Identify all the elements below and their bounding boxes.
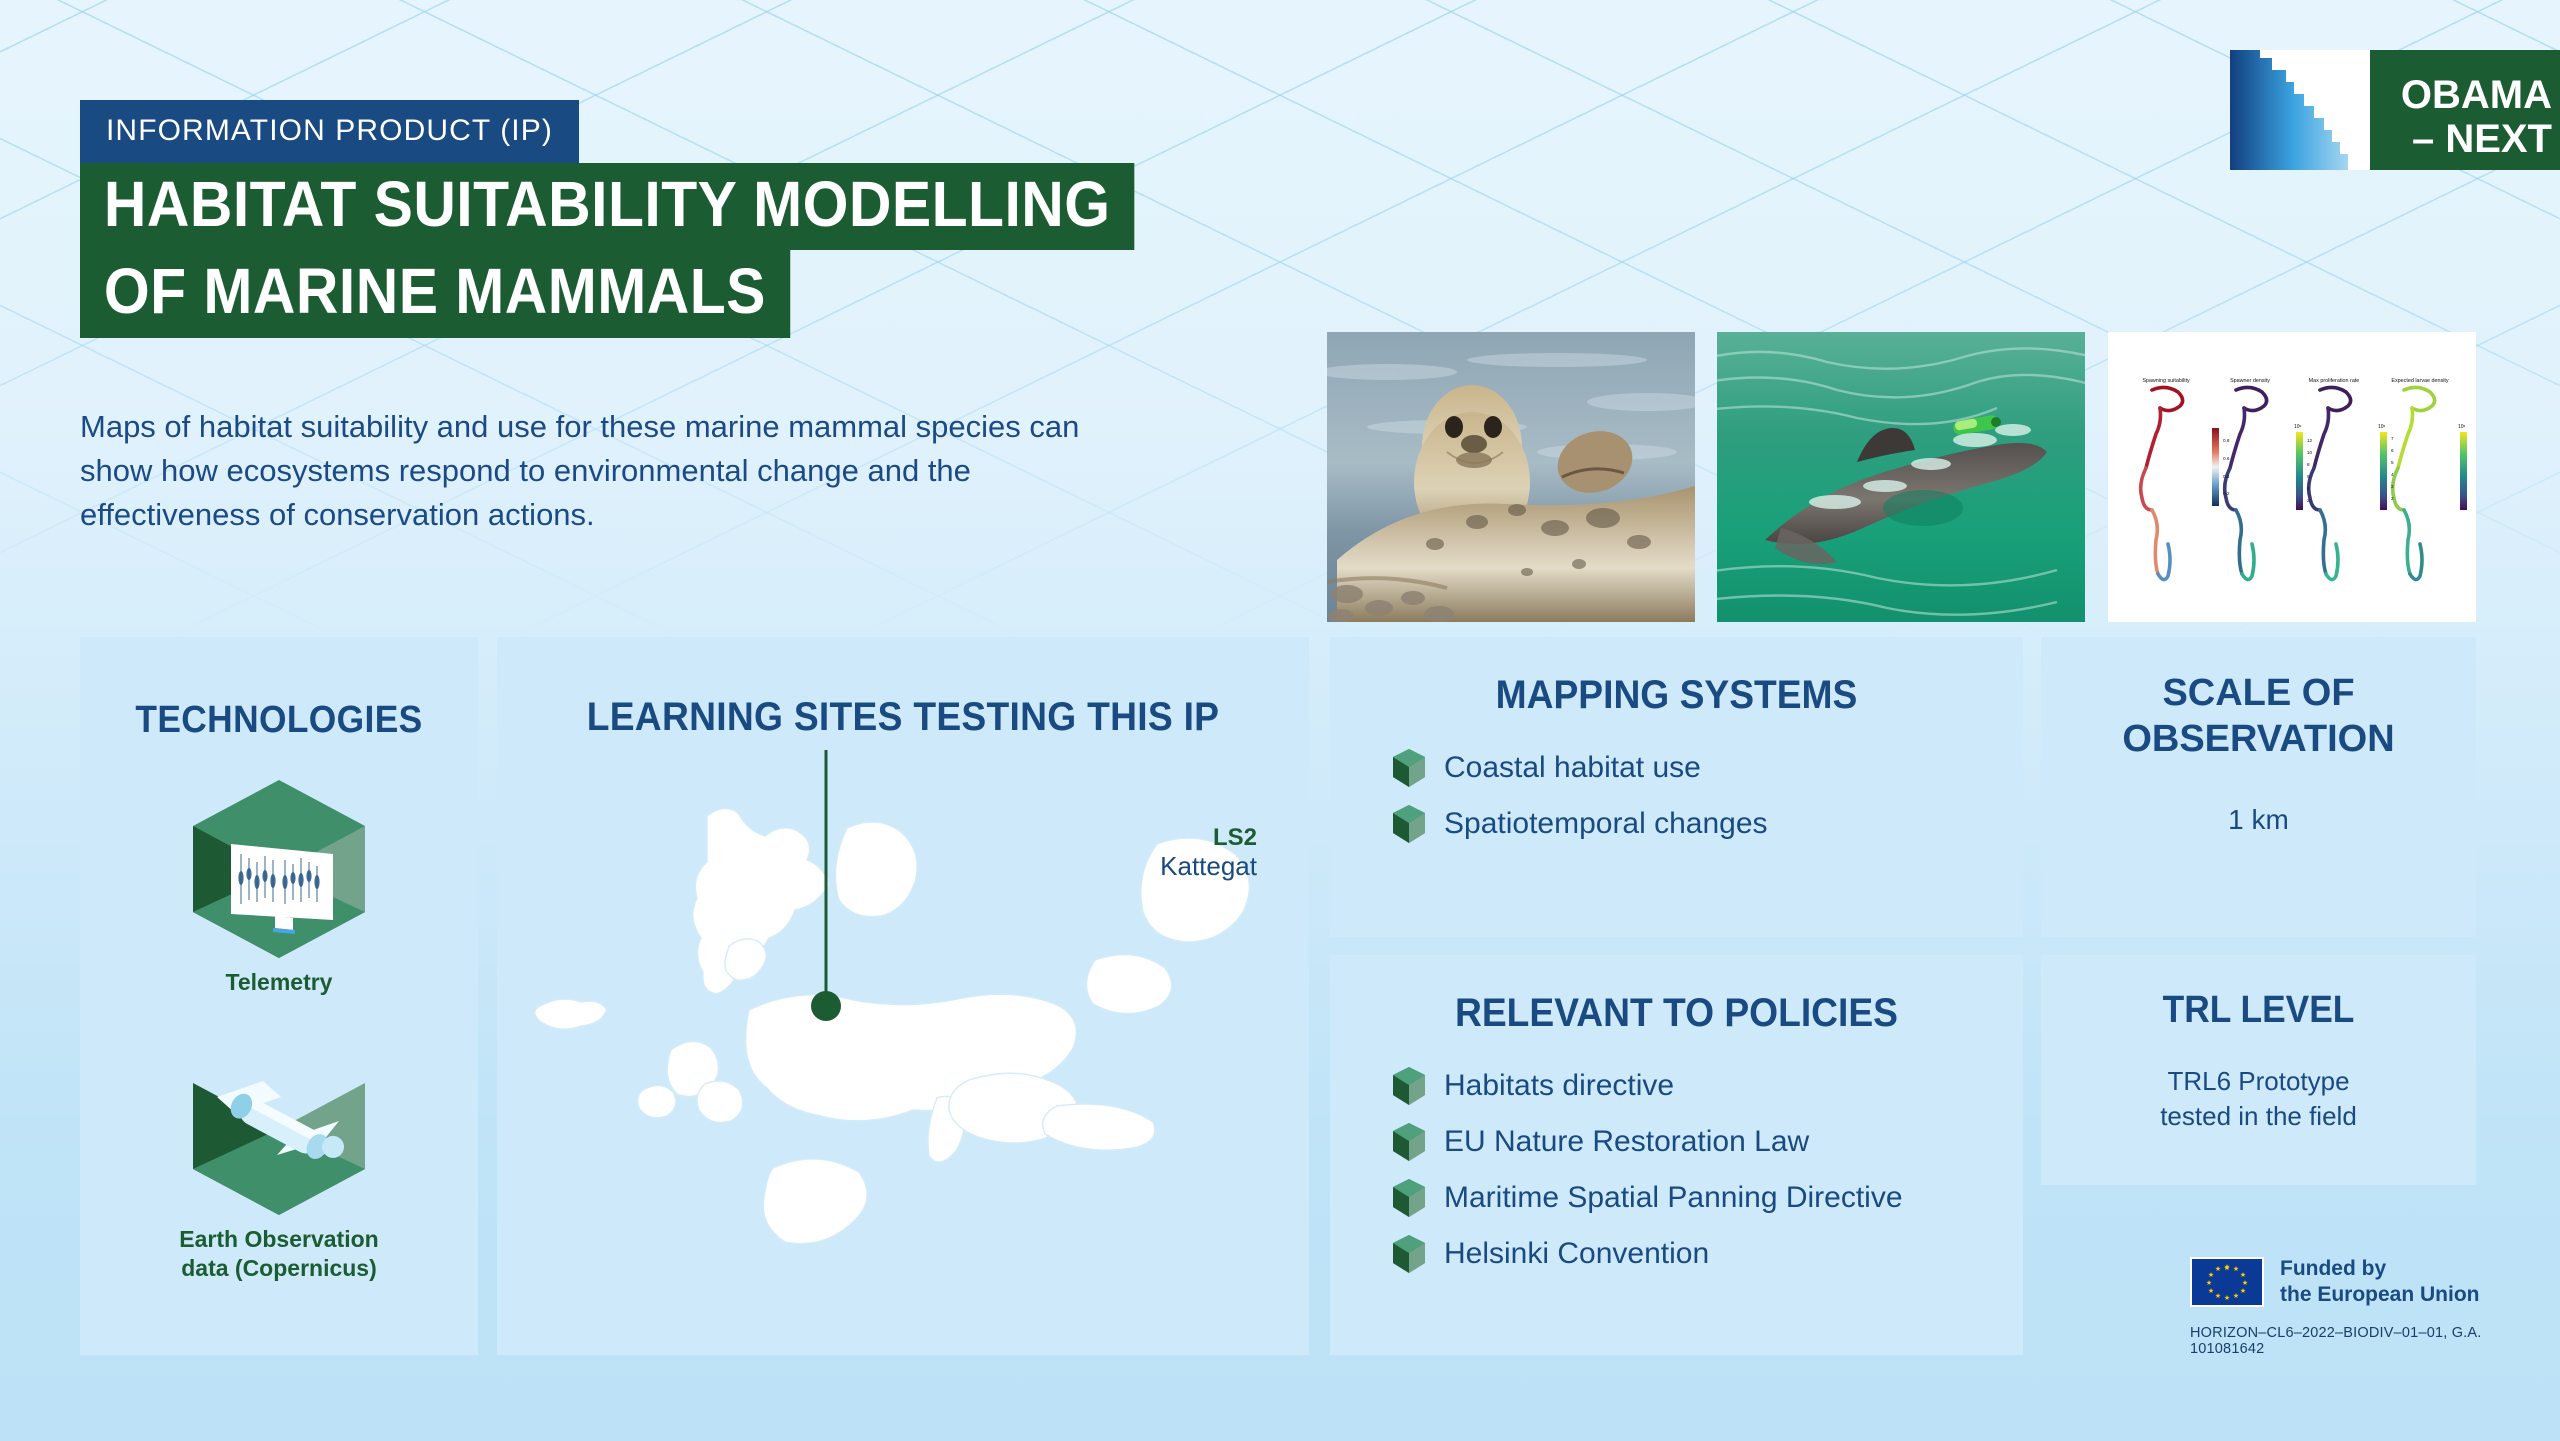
figure-panel-label-1: Spawning suitability bbox=[2142, 378, 2190, 384]
cube-bullet-icon bbox=[1392, 804, 1426, 844]
mapping-systems-list: Coastal habitat use Spatiotemporal chang… bbox=[1392, 748, 2023, 844]
svg-text:★: ★ bbox=[2240, 1271, 2246, 1279]
svg-text:7: 7 bbox=[2391, 436, 2394, 441]
svg-text:★: ★ bbox=[2233, 1265, 2239, 1273]
svg-text:★: ★ bbox=[2242, 1279, 2248, 1287]
svg-text:★: ★ bbox=[2208, 1271, 2214, 1279]
eu-funding-text: Funded by the European Union bbox=[2280, 1256, 2480, 1309]
list-item-label: Spatiotemporal changes bbox=[1444, 807, 1768, 841]
svg-text:★: ★ bbox=[2233, 1292, 2239, 1300]
cube-bullet-icon bbox=[1392, 748, 1426, 788]
list-item: Helsinki Convention bbox=[1392, 1234, 2023, 1274]
intro-paragraph: Maps of habitat suitability and use for … bbox=[80, 405, 1100, 537]
panel-relevant-policies: RELEVANT TO POLICIES Habitats directive … bbox=[1330, 955, 2023, 1355]
learning-site-label: LS2 Kattegat bbox=[1057, 825, 1257, 881]
grant-agreement-text: HORIZON–CL6–2022–BIODIV–01–01, G.A. 1010… bbox=[2190, 1325, 2490, 1357]
svg-text:★: ★ bbox=[2240, 1287, 2246, 1295]
cube-bullet-icon bbox=[1392, 1234, 1426, 1274]
list-item: Coastal habitat use bbox=[1392, 748, 2023, 788]
cube-bullet-icon bbox=[1392, 1178, 1426, 1218]
svg-text:10: 10 bbox=[2307, 450, 2313, 455]
list-item: Spatiotemporal changes bbox=[1392, 804, 2023, 844]
svg-text:4: 4 bbox=[2307, 486, 2310, 491]
svg-text:★: ★ bbox=[2215, 1265, 2221, 1273]
svg-text:0.2: 0.2 bbox=[2223, 491, 2230, 496]
photo-tagged-harbour-porpoise bbox=[1717, 332, 2085, 622]
svg-text:2: 2 bbox=[2307, 498, 2310, 503]
cube-bullet-icon bbox=[1392, 1122, 1426, 1162]
svg-text:★: ★ bbox=[2224, 1263, 2230, 1271]
scale-of-observation-value: 1 km bbox=[2041, 804, 2476, 836]
svg-text:2: 2 bbox=[2391, 496, 2394, 501]
svg-text:4: 4 bbox=[2391, 472, 2394, 477]
logo-text-line-2: – NEXT bbox=[2412, 117, 2552, 161]
list-item-label: Maritime Spatial Panning Directive bbox=[1444, 1181, 1903, 1215]
list-item-label: Helsinki Convention bbox=[1444, 1237, 1709, 1271]
mapping-systems-title: MAPPING SYSTEMS bbox=[1354, 673, 1998, 718]
trl-level-value: TRL6 Prototype tested in the field bbox=[2041, 1064, 2476, 1134]
svg-text:10ˢ: 10ˢ bbox=[2294, 424, 2302, 430]
technology-label-telemetry: Telemetry bbox=[80, 968, 478, 997]
policies-list: Habitats directive EU Nature Restoration… bbox=[1392, 1066, 2023, 1274]
learning-sites-title: LEARNING SITES TESTING THIS IP bbox=[525, 695, 1280, 740]
panel-trl-level: TRL LEVEL TRL6 Prototype tested in the f… bbox=[2041, 955, 2476, 1185]
panel-mapping-systems: MAPPING SYSTEMS Coastal habitat use Spat… bbox=[1330, 637, 2023, 937]
learning-site-name: Kattegat bbox=[1057, 852, 1257, 881]
obama-next-logo: OBAMA – NEXT bbox=[2230, 50, 2560, 170]
trl-level-title: TRL LEVEL bbox=[2056, 989, 2461, 1032]
svg-text:★: ★ bbox=[2208, 1287, 2214, 1295]
svg-text:6: 6 bbox=[2307, 474, 2310, 479]
technology-item-telemetry: Telemetry bbox=[80, 776, 478, 997]
list-item: Habitats directive bbox=[1392, 1066, 2023, 1106]
svg-text:3: 3 bbox=[2391, 484, 2394, 489]
eu-funding-line-1: Funded by bbox=[2280, 1256, 2480, 1282]
svg-text:★: ★ bbox=[2215, 1292, 2221, 1300]
svg-text:0.4: 0.4 bbox=[2223, 474, 2230, 479]
svg-text:10ˢ: 10ˢ bbox=[2458, 424, 2466, 430]
svg-text:★: ★ bbox=[2206, 1279, 2212, 1287]
list-item: EU Nature Restoration Law bbox=[1392, 1122, 2023, 1162]
eu-funding-line-2: the European Union bbox=[2280, 1282, 2480, 1308]
page-title: HABITAT SUITABILITY MODELLING OF MARINE … bbox=[80, 163, 1226, 338]
technology-item-earth-observation: Earth Observation data (Copernicus) bbox=[80, 1033, 478, 1283]
list-item-label: Coastal habitat use bbox=[1444, 751, 1701, 785]
svg-text:5: 5 bbox=[2391, 460, 2394, 465]
photo-habitat-map-figure: Spawning suitability Spawner density Max… bbox=[2108, 332, 2476, 622]
list-item: Maritime Spatial Panning Directive bbox=[1392, 1178, 2023, 1218]
list-item-label: Habitats directive bbox=[1444, 1069, 1674, 1103]
technology-label-earth-observation: Earth Observation data (Copernicus) bbox=[80, 1225, 478, 1283]
policies-title: RELEVANT TO POLICIES bbox=[1354, 991, 1998, 1036]
panel-scale-of-observation: SCALE OF OBSERVATION 1 km bbox=[2041, 637, 2476, 937]
svg-text:0.8: 0.8 bbox=[2223, 438, 2230, 443]
svg-text:★: ★ bbox=[2224, 1294, 2230, 1302]
eu-flag-icon: ★★★ ★★★ ★★★ ★★★ bbox=[2190, 1257, 2264, 1307]
information-product-badge: INFORMATION PRODUCT (IP) bbox=[80, 100, 579, 164]
learning-site-code: LS2 bbox=[1057, 825, 1257, 852]
svg-text:10ˢ: 10ˢ bbox=[2378, 424, 2386, 430]
technologies-title: TECHNOLOGIES bbox=[94, 699, 464, 742]
figure-panel-label-3: Max proliferation rate bbox=[2309, 378, 2360, 384]
scale-of-observation-title: SCALE OF OBSERVATION bbox=[2041, 671, 2476, 762]
learning-site-marker bbox=[811, 991, 841, 1021]
cube-bullet-icon bbox=[1392, 1066, 1426, 1106]
panel-learning-sites: LEARNING SITES TESTING THIS IP bbox=[497, 637, 1309, 1355]
panel-technologies: TECHNOLOGIES bbox=[80, 637, 478, 1355]
svg-text:12: 12 bbox=[2307, 438, 2313, 443]
logo-text-line-1: OBAMA bbox=[2401, 73, 2552, 117]
svg-text:8: 8 bbox=[2307, 462, 2310, 467]
svg-text:6: 6 bbox=[2391, 448, 2394, 453]
page-title-line-1: HABITAT SUITABILITY MODELLING bbox=[80, 163, 1134, 250]
list-item-label: EU Nature Restoration Law bbox=[1444, 1125, 1809, 1159]
eu-funding-block: ★★★ ★★★ ★★★ ★★★ Funded by the European U… bbox=[2190, 1256, 2490, 1357]
figure-panel-label-4: Expected larvae density bbox=[2391, 378, 2449, 384]
svg-text:0.6: 0.6 bbox=[2223, 456, 2230, 461]
figure-panel-label-2: Spawner density bbox=[2230, 378, 2270, 384]
satellite-icon bbox=[189, 1033, 369, 1219]
page-title-line-2: OF MARINE MAMMALS bbox=[80, 250, 790, 337]
photo-harbour-seals bbox=[1327, 332, 1695, 622]
monitor-chart-icon bbox=[189, 776, 369, 962]
